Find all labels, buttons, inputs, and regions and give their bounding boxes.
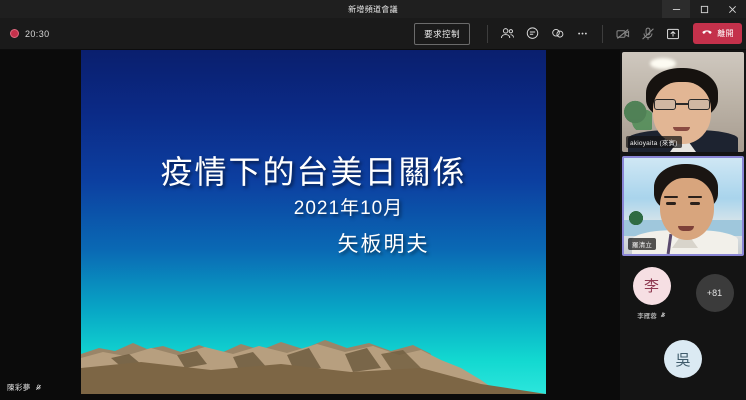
participant-rail: akioyaita (來賓) 羅清立 李 李雁蓉 xyxy=(620,50,746,400)
mic-off-icon[interactable] xyxy=(635,23,660,45)
mountain-graphic xyxy=(81,324,546,394)
leave-meeting-label: 離開 xyxy=(717,28,734,39)
mic-off-icon xyxy=(35,384,42,391)
participant-eye-left xyxy=(666,202,676,205)
tree-decor xyxy=(628,210,644,228)
recording-indicator: 20:30 xyxy=(10,29,50,39)
share-screen-icon[interactable] xyxy=(660,23,685,45)
leave-meeting-button[interactable]: 離開 xyxy=(693,23,742,44)
toolbar-actions: 要求控制 xyxy=(414,23,746,45)
slide-date: 2021年10月 xyxy=(81,193,546,220)
video-tile-akioyaita[interactable]: akioyaita (來賓) xyxy=(622,52,744,152)
avatar-name: 李雁蓉 xyxy=(637,310,657,320)
avatar-tile-row: 李 李雁蓉 +81 xyxy=(622,260,744,326)
presenter-name: 陳彩夢 xyxy=(7,382,31,393)
camera-off-icon[interactable] xyxy=(610,23,635,45)
participant-face xyxy=(653,82,711,144)
avatar-tile-wu[interactable]: 吳 xyxy=(622,326,744,392)
slide-author: 矢板明夫 xyxy=(81,228,546,258)
participant-eye-right xyxy=(690,202,700,205)
chat-icon[interactable] xyxy=(520,23,545,45)
mic-off-icon xyxy=(660,312,666,318)
minimize-button[interactable] xyxy=(662,0,690,18)
avatar-tile-li[interactable]: 李 李雁蓉 xyxy=(622,260,681,326)
window-controls xyxy=(662,0,746,18)
recording-dot-icon xyxy=(10,29,19,38)
participant-mouth xyxy=(678,226,694,231)
toolbar-divider-2 xyxy=(602,25,603,43)
avatar-tile-overflow[interactable]: +81 xyxy=(685,260,744,326)
video-tile-name: 羅清立 xyxy=(628,238,656,250)
video-tile-active-speaker[interactable]: 羅清立 xyxy=(622,156,744,256)
meeting-toolbar: 20:30 要求控制 xyxy=(0,18,746,50)
avatar: 李 xyxy=(633,267,671,305)
toolbar-divider xyxy=(487,25,488,43)
ceiling-light xyxy=(650,58,676,69)
shared-presentation-slide[interactable]: 疫情下的台美日關係 2021年10月 矢板明夫 xyxy=(81,50,546,394)
eyeglasses xyxy=(653,99,711,110)
maximize-button[interactable] xyxy=(690,0,718,18)
meeting-stage: 疫情下的台美日關係 2021年10月 矢板明夫 陳彩夢 xyxy=(0,50,620,400)
slide-title: 疫情下的台美日關係 xyxy=(81,147,546,193)
presenter-name-badge: 陳彩夢 xyxy=(7,382,42,393)
avatar-name-row: 李雁蓉 xyxy=(637,310,666,320)
avatar: 吳 xyxy=(664,340,702,378)
more-options-icon[interactable] xyxy=(570,23,595,45)
video-tile-name: akioyaita (來賓) xyxy=(626,136,682,148)
request-control-button[interactable]: 要求控制 xyxy=(414,23,470,45)
window-title: 新增頻道會議 xyxy=(348,4,398,15)
participant-mouth xyxy=(673,127,690,131)
overflow-count-badge: +81 xyxy=(696,274,734,312)
people-icon[interactable] xyxy=(495,23,520,45)
raise-hand-icon[interactable] xyxy=(545,23,570,45)
meeting-timer: 20:30 xyxy=(25,29,50,39)
hangup-icon xyxy=(701,25,713,43)
window-titlebar: 新增頻道會議 xyxy=(0,0,746,18)
close-button[interactable] xyxy=(718,0,746,18)
